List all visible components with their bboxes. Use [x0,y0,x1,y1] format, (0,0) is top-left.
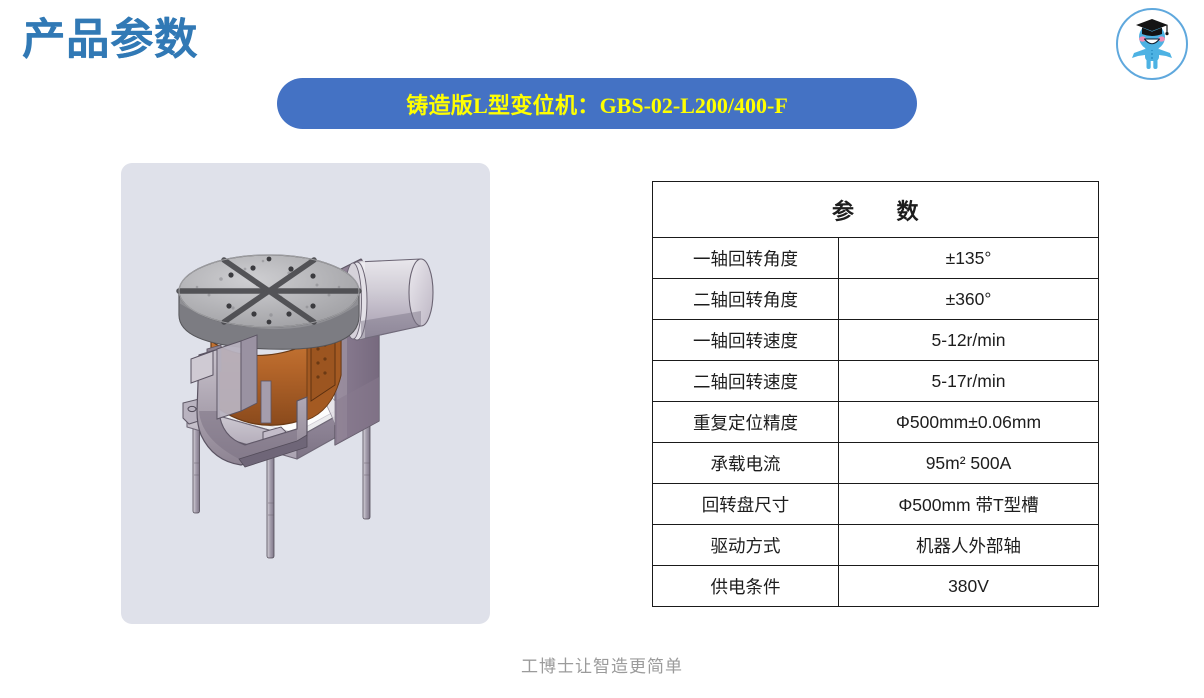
spec-label: 回转盘尺寸 [653,484,839,525]
graduate-mascot-icon [1116,8,1188,80]
product-image-panel [121,163,490,624]
spec-label: 二轴回转速度 [653,361,839,402]
page-title: 产品参数 [22,14,198,66]
table-row: 一轴回转速度 5-12r/min [653,320,1099,361]
table-row: 驱动方式 机器人外部轴 [653,525,1099,566]
table-row: 重复定位精度 Φ500mm±0.06mm [653,402,1099,443]
table-row: 供电条件 380V [653,566,1099,607]
product-image-positioner [121,163,490,624]
spec-value: ±135° [839,238,1099,279]
banner-text: 铸造版L型变位机：GBS-02-L200/400-F [406,88,788,120]
spec-label: 重复定位精度 [653,402,839,443]
table-row: 承载电流 95m² 500A [653,443,1099,484]
spec-value: 95m² 500A [839,443,1099,484]
specification-table: 参数 一轴回转角度 ±135° 二轴回转角度 ±360° 一轴回转速度 5-12… [652,181,1099,607]
header-char-left: 参 [832,199,855,224]
spec-label: 驱动方式 [653,525,839,566]
table-row: 一轴回转角度 ±135° [653,238,1099,279]
footer-slogan: 工博士让智造更简单 [0,652,1204,677]
spec-value: 5-12r/min [839,320,1099,361]
spec-label: 一轴回转速度 [653,320,839,361]
logo [1116,8,1188,80]
spec-label: 供电条件 [653,566,839,607]
slide-root: 产品参数 [0,0,1204,698]
spec-value: 机器人外部轴 [839,525,1099,566]
table-row: 二轴回转角度 ±360° [653,279,1099,320]
table-row: 二轴回转速度 5-17r/min [653,361,1099,402]
table-header-row: 参数 [653,182,1099,238]
banner-model-code: GBS-02-L200/400-F [600,93,788,118]
spec-label: 一轴回转角度 [653,238,839,279]
spec-label: 二轴回转角度 [653,279,839,320]
spec-value: 5-17r/min [839,361,1099,402]
product-title-banner: 铸造版L型变位机：GBS-02-L200/400-F [277,78,917,129]
banner-text-prefix: 铸造版L型变位机： [406,93,599,118]
table-header-cell: 参数 [653,182,1099,238]
spec-label: 承载电流 [653,443,839,484]
table-row: 回转盘尺寸 Φ500mm 带T型槽 [653,484,1099,525]
header-char-right: 数 [897,199,920,224]
spec-value: ±360° [839,279,1099,320]
spec-value: 380V [839,566,1099,607]
spec-value: Φ500mm 带T型槽 [839,484,1099,525]
spec-value: Φ500mm±0.06mm [839,402,1099,443]
